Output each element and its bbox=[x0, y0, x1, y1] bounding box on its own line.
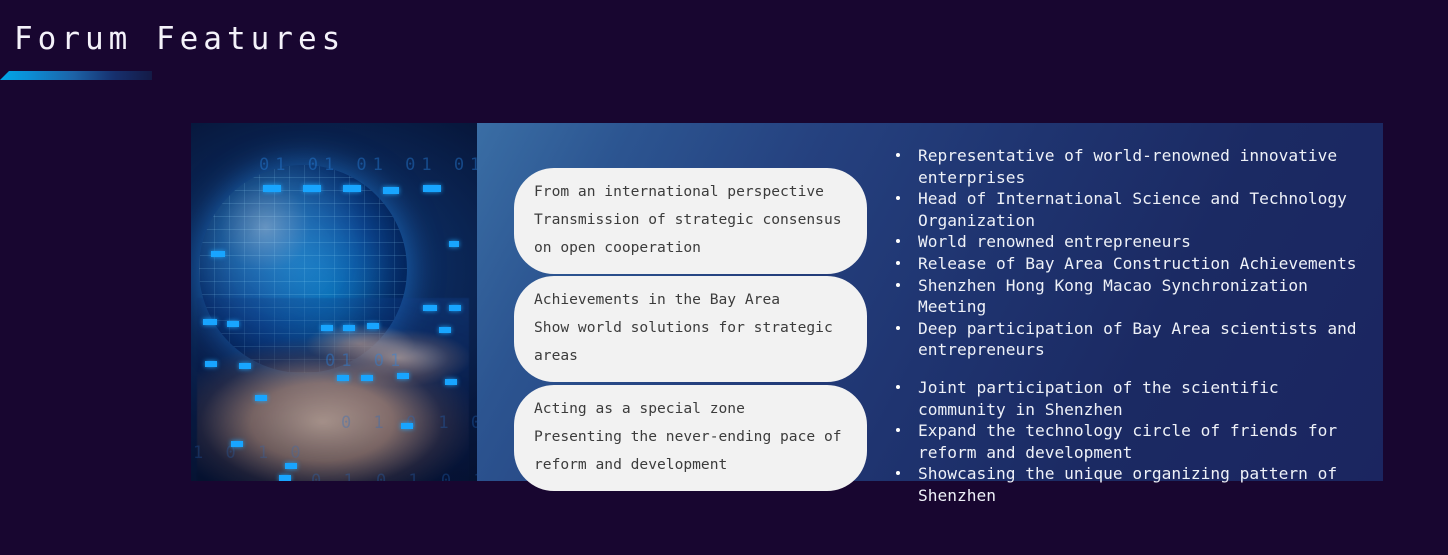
list-item: Joint participation of the scientific co… bbox=[888, 377, 1359, 420]
title-accent-bar bbox=[0, 71, 152, 80]
slide-root: Forum Features 01 01 01 01 01 01 01 0 1 … bbox=[0, 0, 1448, 555]
bullet-dot-icon bbox=[896, 283, 900, 287]
pill-card-line2: Presenting the never-ending pace of refo… bbox=[534, 423, 845, 479]
bullet-group: Release of Bay Area Construction Achieve… bbox=[888, 253, 1359, 361]
list-item: Deep participation of Bay Area scientist… bbox=[888, 318, 1359, 361]
pill-card-line2: Show world solutions for strategic areas bbox=[534, 314, 845, 370]
info-panel: From an international perspective Transm… bbox=[477, 123, 1383, 481]
pill-card: Achievements in the Bay Area Show world … bbox=[514, 276, 867, 382]
pill-card: From an international perspective Transm… bbox=[514, 168, 867, 274]
list-item: Showcasing the unique organizing pattern… bbox=[888, 463, 1359, 506]
pill-card-line1: Achievements in the Bay Area bbox=[534, 286, 845, 314]
pill-card: Acting as a special zone Presenting the … bbox=[514, 385, 867, 491]
bullet-dot-icon bbox=[896, 261, 900, 265]
list-item-label: Deep participation of Bay Area scientist… bbox=[918, 319, 1357, 360]
list-item-label: Showcasing the unique organizing pattern… bbox=[918, 464, 1337, 505]
bullet-dot-icon bbox=[896, 326, 900, 330]
bullet-group: Joint participation of the scientific co… bbox=[888, 377, 1359, 507]
bullet-dot-icon bbox=[896, 196, 900, 200]
binary-digits-icon: 01 01 01 01 01 01 01 0 1 0 1 0 0 1 0 1 0… bbox=[191, 123, 477, 481]
list-item-label: Joint participation of the scientific co… bbox=[918, 378, 1279, 419]
hero-image: 01 01 01 01 01 01 01 0 1 0 1 0 0 1 0 1 0… bbox=[191, 123, 477, 481]
list-item: Release of Bay Area Construction Achieve… bbox=[888, 253, 1359, 275]
list-item: Representative of world-renowned innovat… bbox=[888, 145, 1359, 188]
list-item: Head of International Science and Techno… bbox=[888, 188, 1359, 231]
list-item-label: Release of Bay Area Construction Achieve… bbox=[918, 254, 1357, 273]
pill-card-list: From an international perspective Transm… bbox=[477, 123, 872, 481]
list-item-label: Expand the technology circle of friends … bbox=[918, 421, 1337, 462]
bullet-dot-icon bbox=[896, 471, 900, 475]
pill-card-line2: Transmission of strategic consensus on o… bbox=[534, 206, 845, 262]
list-item: Expand the technology circle of friends … bbox=[888, 420, 1359, 463]
bullet-dot-icon bbox=[896, 239, 900, 243]
bullet-dot-icon bbox=[896, 385, 900, 389]
page-title: Forum Features bbox=[14, 22, 345, 56]
bullet-dot-icon bbox=[896, 428, 900, 432]
pill-card-line1: From an international perspective bbox=[534, 178, 845, 206]
list-item: Shenzhen Hong Kong Macao Synchronization… bbox=[888, 275, 1359, 318]
list-item: World renowned entrepreneurs bbox=[888, 231, 1359, 253]
list-item-label: World renowned entrepreneurs bbox=[918, 232, 1191, 251]
bullet-list: Representative of world-renowned innovat… bbox=[872, 123, 1383, 481]
bullet-dot-icon bbox=[896, 153, 900, 157]
bullet-group: Representative of world-renowned innovat… bbox=[888, 145, 1359, 253]
list-item-label: Representative of world-renowned innovat… bbox=[918, 146, 1337, 187]
list-item-label: Head of International Science and Techno… bbox=[918, 189, 1347, 230]
pill-card-line1: Acting as a special zone bbox=[534, 395, 845, 423]
content-band: 01 01 01 01 01 01 01 0 1 0 1 0 0 1 0 1 0… bbox=[191, 123, 1383, 481]
list-item-label: Shenzhen Hong Kong Macao Synchronization… bbox=[918, 276, 1308, 317]
